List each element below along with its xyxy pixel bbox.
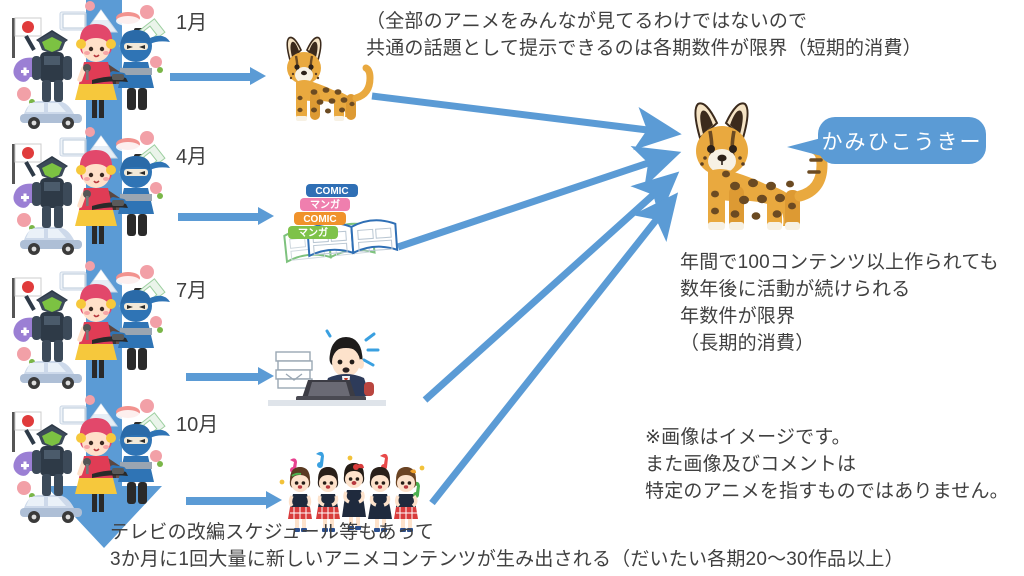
note-disclaimer: ※画像はイメージです。 また画像及びコメントは 特定のアニメを指すものではありま… bbox=[645, 424, 1009, 505]
converge-arrow-4 bbox=[432, 200, 672, 503]
svg-text:マンガ: マンガ bbox=[310, 198, 340, 211]
comic-label-4: マンガ bbox=[288, 226, 338, 239]
svg-text:COMIC: COMIC bbox=[315, 186, 348, 197]
serval-large-illustration bbox=[672, 98, 832, 243]
note-bottom: テレビの改編スケジュール等もあって 3か月に1回大量に新しいアニメコンテンツが生… bbox=[110, 519, 904, 573]
note-right: 年間で100コンテンツ以上作られても 数年後に活動が続けられる 年数件が限界 （… bbox=[680, 249, 999, 357]
converge-arrow-3 bbox=[425, 178, 672, 400]
converge-arrow-2 bbox=[398, 155, 672, 247]
svg-text:マンガ: マンガ bbox=[298, 226, 328, 239]
comic-label-3: COMIC bbox=[294, 212, 346, 225]
comic-label-1: COMIC bbox=[306, 184, 358, 197]
idol-group-illustration bbox=[272, 450, 432, 530]
converge-arrow-1 bbox=[372, 96, 672, 133]
note-top: （全部のアニメをみんなが見てるわけではないので 共通の話題として提示できるのは各… bbox=[366, 8, 922, 62]
comic-label-2: マンガ bbox=[300, 198, 350, 211]
speech-bubble[interactable]: かみひこうきー bbox=[818, 117, 986, 164]
serval-small-illustration bbox=[272, 34, 376, 128]
slide-canvas: 1月 4月 7月 10月 bbox=[0, 0, 1024, 576]
svg-text:COMIC: COMIC bbox=[303, 214, 336, 225]
person-laptop-illustration bbox=[268, 330, 386, 406]
comic-books-illustration: マンガ COMIC マンガ COMIC bbox=[278, 180, 398, 272]
